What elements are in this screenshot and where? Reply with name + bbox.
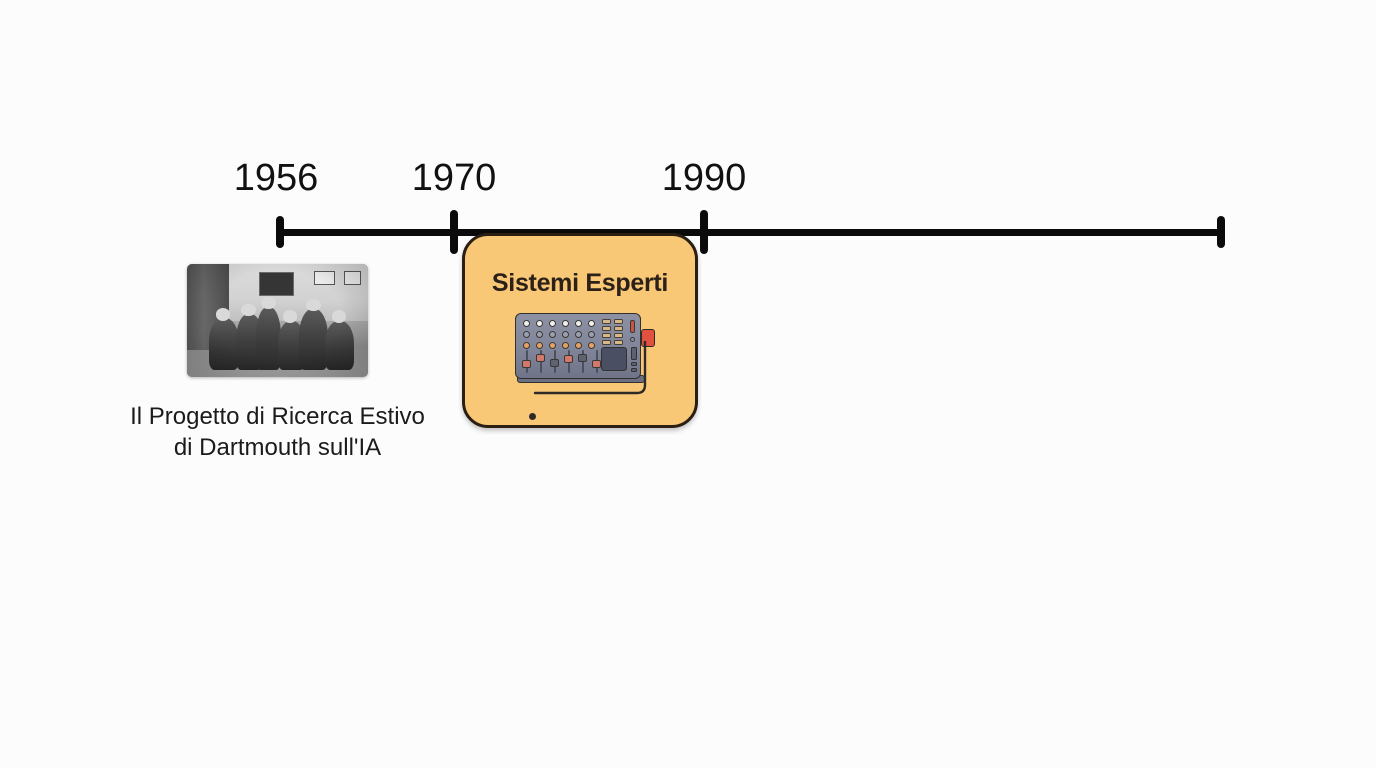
year-label-1956: 1956 [206, 157, 346, 200]
console-knob [575, 320, 582, 327]
year-label-1970: 1970 [384, 157, 524, 200]
console-button [614, 333, 623, 338]
console-knob [549, 320, 556, 327]
photo-vignette [187, 264, 368, 377]
year-label-1990: 1990 [634, 157, 774, 200]
timeline-event-card-1970[interactable]: Sistemi Esperti [462, 233, 698, 428]
console-knob [575, 331, 582, 338]
console-button [602, 319, 611, 324]
timeline-tick-1970 [450, 210, 458, 254]
console-knob [536, 331, 543, 338]
console-cable-end [529, 413, 536, 420]
console-led-indicator [630, 320, 635, 333]
console-knob [549, 331, 556, 338]
console-knob [523, 331, 530, 338]
console-knob [523, 320, 530, 327]
timeline-tick-1956 [276, 216, 284, 248]
console-knob [536, 320, 543, 327]
timeline-tick-1990 [700, 210, 708, 254]
caption-line-1: Il Progetto di Ricerca Estivo [110, 401, 445, 432]
console-knob [588, 320, 595, 327]
card-title-sistemi-esperti: Sistemi Esperti [465, 269, 695, 298]
console-button [614, 326, 623, 331]
console-button [602, 333, 611, 338]
timeline-tick-end [1217, 216, 1225, 248]
event-caption-1956: Il Progetto di Ricerca Estivo di Dartmou… [110, 401, 445, 463]
console-knob [562, 320, 569, 327]
console-fader-cap [522, 360, 531, 368]
timeline-event-1956: Il Progetto di Ricerca Estivo di Dartmou… [110, 264, 445, 463]
console-knob [588, 331, 595, 338]
caption-line-2: di Dartmouth sull'IA [110, 432, 445, 463]
console-button [614, 319, 623, 324]
timeline-axis-line [279, 229, 1221, 236]
console-knob [523, 342, 530, 349]
console-button [602, 326, 611, 331]
console-cable [533, 341, 647, 397]
dartmouth-group-photo [187, 264, 368, 377]
console-knob [562, 331, 569, 338]
